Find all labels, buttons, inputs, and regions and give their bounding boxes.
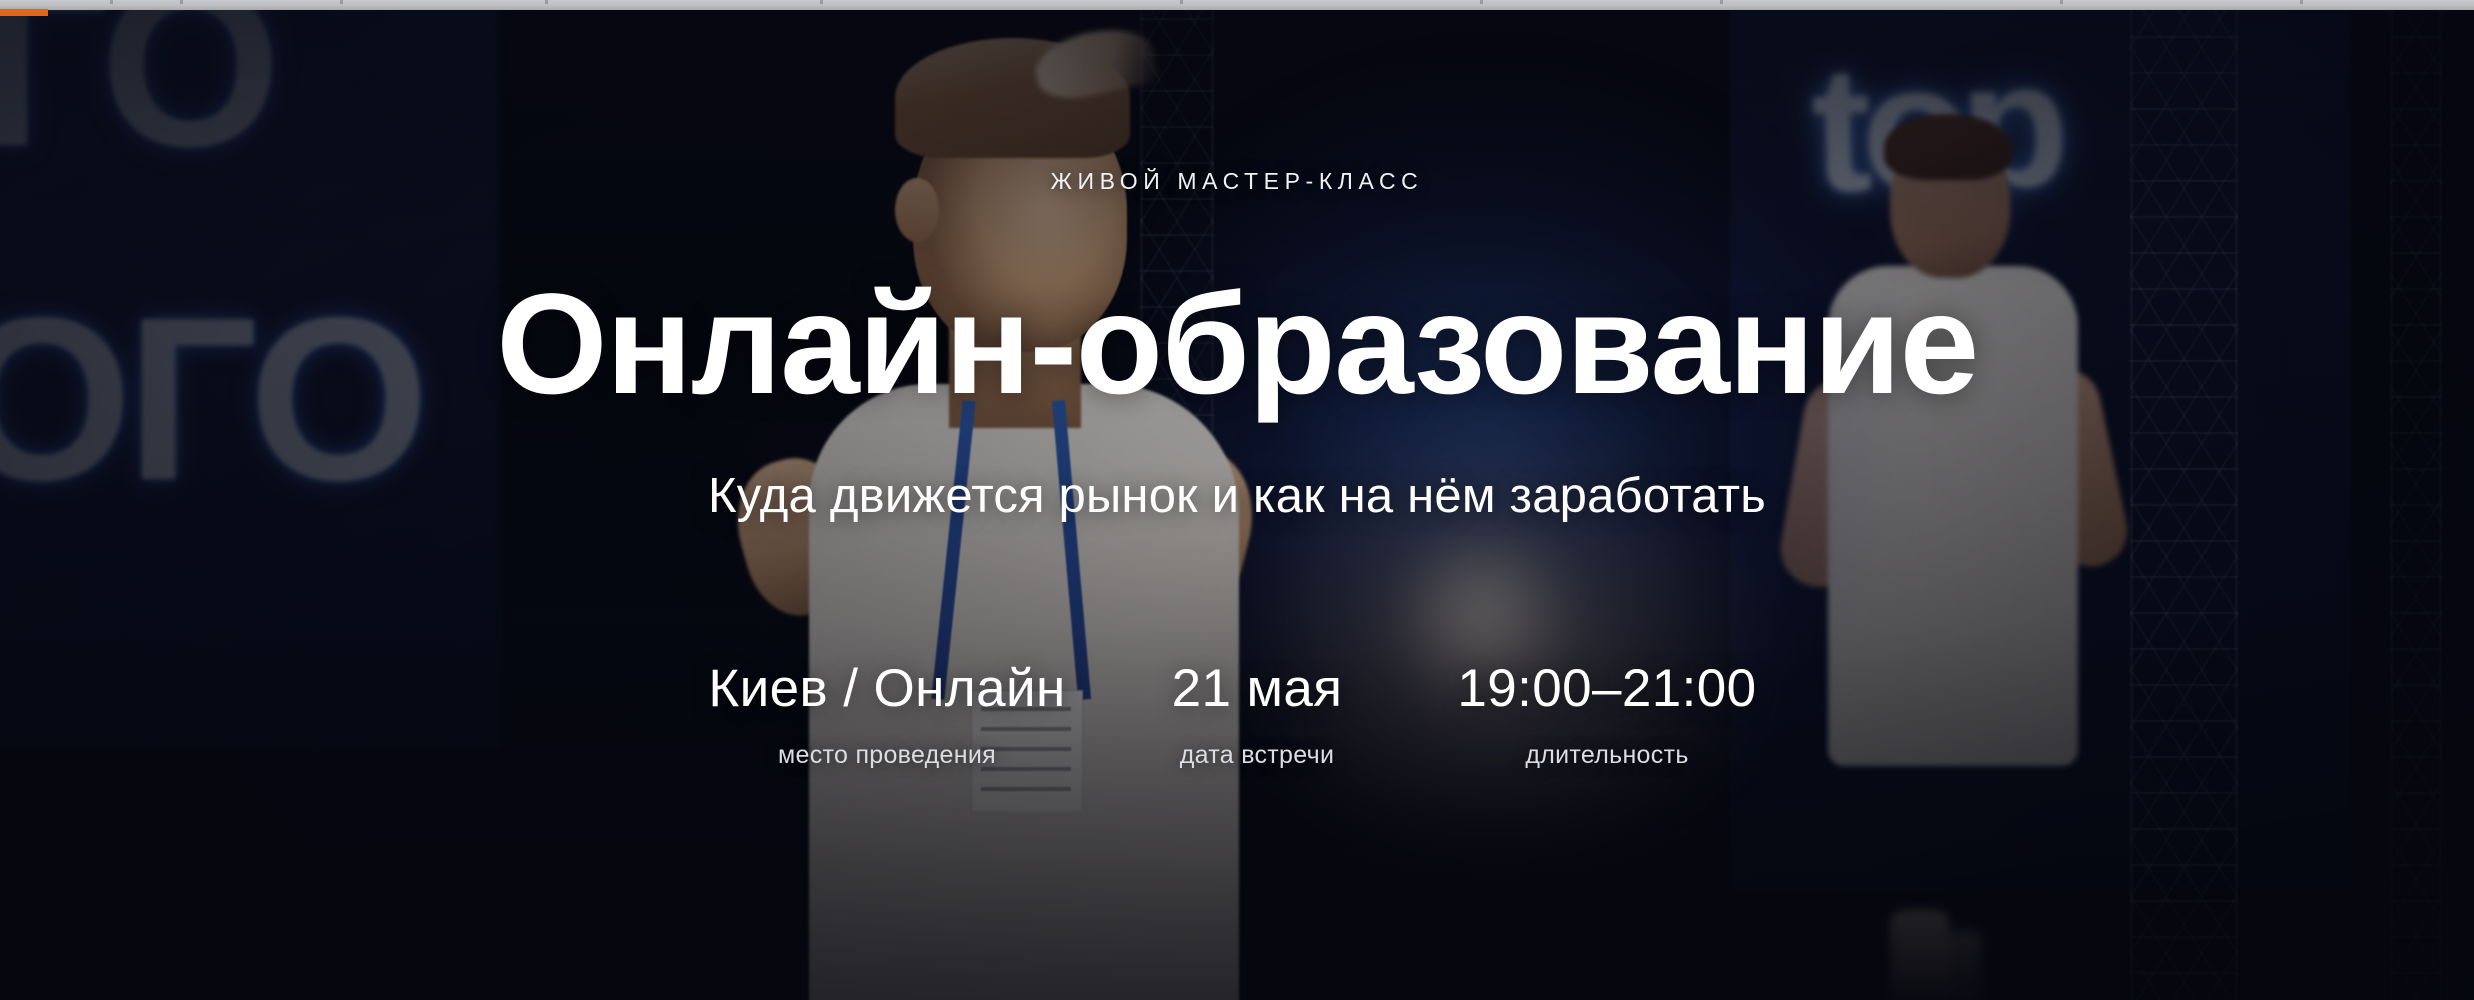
page-load-progress-bar (0, 9, 48, 16)
meta-item-location: Киев / Онлайн место проведения (682, 658, 1092, 770)
meta-item-date: 21 мая дата встречи (1092, 658, 1422, 770)
browser-chrome-strip (0, 0, 2474, 10)
meta-date-value: 21 мая (1092, 658, 1422, 719)
meta-item-duration: 19:00–21:00 длительность (1422, 658, 1792, 770)
meta-duration-label: длительность (1422, 741, 1792, 770)
hero-content: ЖИВОЙ МАСТЕР-КЛАСС Онлайн-образование Ку… (0, 10, 2474, 1000)
hero-subtitle: Куда движется рынок и как на нём заработ… (708, 468, 1766, 524)
hero-section: ГО ОГО top ЖИВОЙ МАСТЕР-КЛАСС О (0, 10, 2474, 1000)
chrome-tick-row (0, 0, 2474, 10)
meta-date-label: дата встречи (1092, 741, 1422, 770)
hero-kicker: ЖИВОЙ МАСТЕР-КЛАСС (1051, 168, 1424, 195)
meta-duration-value: 19:00–21:00 (1422, 658, 1792, 719)
page-title: Онлайн-образование (496, 273, 1977, 416)
event-meta-row: Киев / Онлайн место проведения 21 мая да… (682, 658, 1792, 770)
meta-location-value: Киев / Онлайн (682, 658, 1092, 719)
meta-location-label: место проведения (682, 741, 1092, 770)
